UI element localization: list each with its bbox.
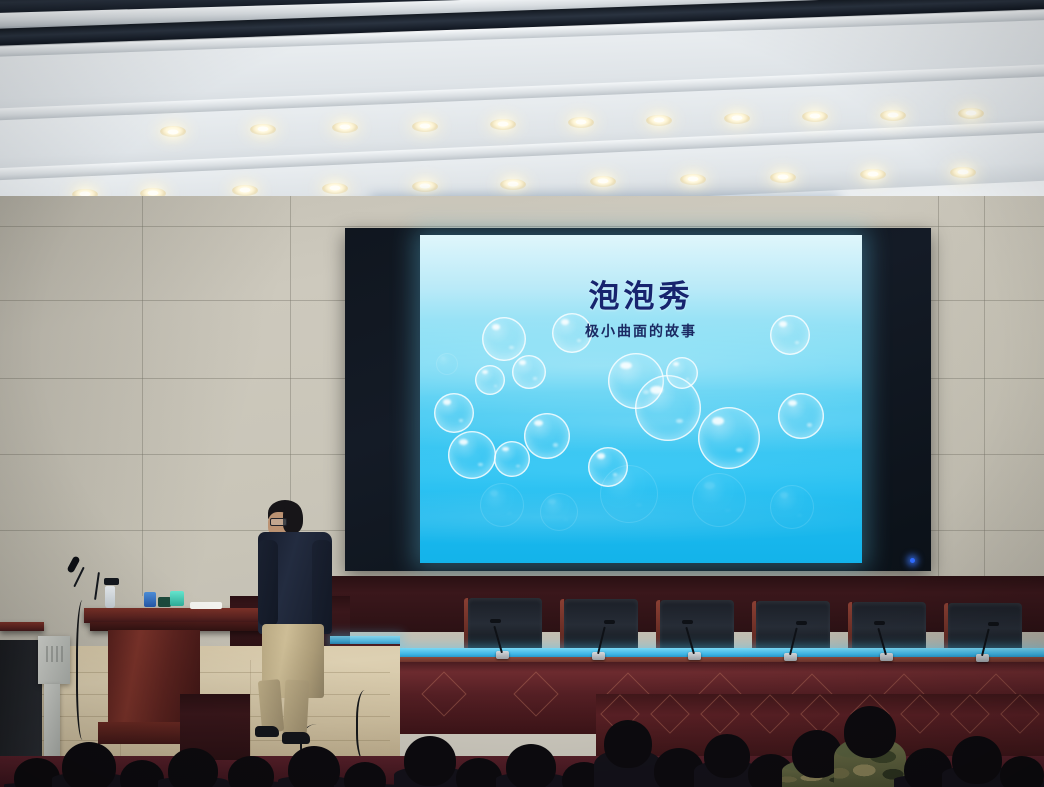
dais-chair — [852, 602, 926, 654]
podium-water-bottle — [105, 586, 115, 608]
dais-microphone-head — [988, 622, 999, 626]
ceiling-downlight — [680, 174, 706, 185]
dais-microphone-head — [682, 620, 693, 624]
ceiling-downlight — [412, 181, 438, 192]
dais-chair-trim — [944, 603, 948, 655]
slide-bubble-reflection — [770, 485, 814, 529]
audience-head — [168, 748, 218, 787]
slide-bubble-reflection — [436, 353, 458, 375]
audience-head — [62, 742, 116, 787]
audience-head — [288, 746, 340, 787]
audience-head — [604, 720, 652, 768]
presenter-leg-back — [258, 679, 284, 733]
left-dark-cabinet — [0, 640, 42, 770]
podium-paper-sheet — [190, 602, 222, 609]
audience-head — [1000, 756, 1044, 787]
lecture-hall-photo: 泡泡秀 极小曲面的故事 — [0, 0, 1044, 787]
slide-bubble — [524, 413, 570, 459]
ceiling — [0, 0, 1044, 215]
audience-head — [952, 736, 1002, 784]
slide-subtitle: 极小曲面的故事 — [420, 321, 862, 341]
presenter-leg-front — [283, 679, 310, 736]
slide-bubble — [778, 393, 824, 439]
dais-chair-trim — [560, 599, 564, 651]
slide-bubble — [448, 431, 496, 479]
ceiling-downlight — [880, 110, 906, 121]
left-wood-ledge — [0, 622, 44, 631]
presenter-arm-right — [312, 540, 332, 632]
ceiling-downlight — [500, 179, 526, 190]
presenter-shoe-back — [255, 726, 279, 737]
presenter-glasses — [270, 518, 287, 526]
ceiling-downlight — [770, 172, 796, 183]
slide-bubble — [512, 355, 546, 389]
podium-cable — [76, 600, 92, 740]
stage-floor-cable-1 — [356, 690, 378, 762]
slide-title: 泡泡秀 — [420, 271, 862, 316]
dais-microphone-head — [490, 619, 501, 623]
slide-bubble-reflection — [692, 473, 746, 527]
audience-head — [506, 744, 556, 787]
presenter-arm-left — [258, 540, 278, 626]
audience-head — [844, 706, 896, 758]
ceiling-downlight — [646, 115, 672, 126]
dais-chair-trim — [848, 602, 852, 654]
dais-chair-trim — [752, 601, 756, 653]
dais-microphone-head — [874, 621, 885, 625]
ceiling-downlight — [950, 167, 976, 178]
projected-slide: 泡泡秀 极小曲面的故事 — [420, 235, 862, 563]
slide-bubble — [434, 393, 474, 433]
podium-blue-bottle-cap — [144, 592, 156, 607]
slide-bubble — [475, 365, 505, 395]
slide-bubble-reflection — [480, 483, 524, 527]
screen-power-led — [910, 558, 915, 563]
ceiling-downlight — [412, 121, 438, 132]
projection-screen[interactable]: 泡泡秀 极小曲面的故事 — [345, 228, 931, 571]
ceiling-downlight — [490, 119, 516, 130]
slide-bubble-reflection — [600, 465, 658, 523]
presenter-shoe-front — [282, 732, 310, 744]
slide-bubble — [698, 407, 760, 469]
dais-microphone-head — [604, 620, 615, 624]
equipment-box-stand — [44, 684, 60, 760]
podium-camera-device — [104, 578, 119, 585]
ceiling-downlight — [568, 117, 594, 128]
podium-teal-object — [170, 591, 184, 606]
podium-top-surface — [84, 608, 276, 623]
dais-chair-trim — [464, 598, 468, 650]
dais-chair-trim — [656, 600, 660, 652]
dais-chair — [660, 600, 734, 652]
slide-bubble — [494, 441, 530, 477]
ceiling-downlight — [958, 108, 984, 119]
slide-bubble — [666, 357, 698, 389]
slide-bubble-reflection — [540, 493, 578, 531]
ceiling-downlight — [322, 183, 348, 194]
dais-chair — [468, 598, 542, 650]
audience-head — [704, 734, 750, 778]
audience-head — [404, 736, 456, 786]
dais-microphone-head — [796, 621, 807, 625]
equipment-box-vent — [46, 646, 64, 662]
